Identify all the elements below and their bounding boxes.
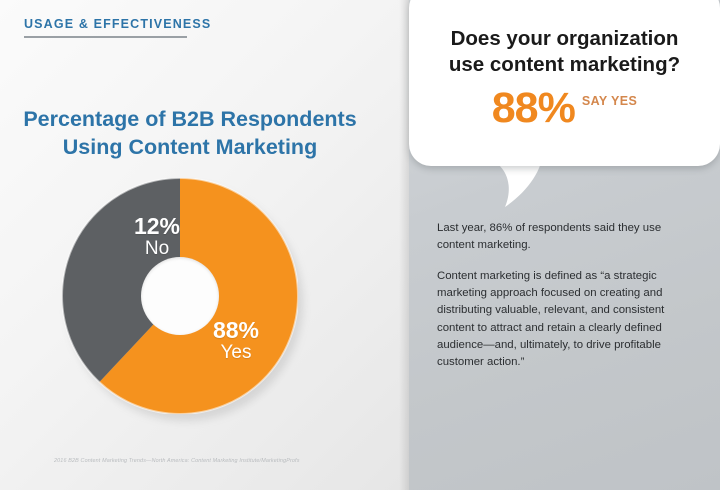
left-panel: USAGE & EFFECTIVENESS Percentage of B2B … bbox=[0, 0, 409, 490]
donut-label-yes-percent: 88% bbox=[193, 318, 279, 343]
callout-question-line1: Does your organization bbox=[451, 27, 679, 50]
chart-footnote: 2016 B2B Content Marketing Trends—North … bbox=[54, 458, 384, 464]
donut-label-no-name: No bbox=[118, 239, 196, 260]
callout-question: Does your organization use content marke… bbox=[409, 26, 720, 78]
callout-stat: 88%SAY YES bbox=[409, 84, 720, 133]
section-header-rule bbox=[24, 36, 187, 38]
chart-title-line2: Using Content Marketing bbox=[63, 135, 317, 159]
callout-stat-caption: SAY YES bbox=[582, 94, 637, 108]
section-header-label: USAGE & EFFECTIVENESS bbox=[24, 17, 211, 35]
chart-title-line1: Percentage of B2B Respondents bbox=[23, 107, 356, 131]
chart-title: Percentage of B2B Respondents Using Cont… bbox=[0, 105, 380, 162]
donut-chart: 12% No 88% Yes bbox=[62, 178, 306, 422]
body-paragraph-2: Content marketing is defined as “a strat… bbox=[437, 268, 695, 372]
donut-label-yes: 88% Yes bbox=[193, 318, 279, 363]
donut-label-no: 12% No bbox=[118, 214, 196, 259]
body-paragraph-1: Last year, 86% of respondents said they … bbox=[437, 220, 695, 255]
body-copy: Last year, 86% of respondents said they … bbox=[437, 220, 695, 372]
callout-question-line2: use content marketing? bbox=[449, 53, 680, 76]
donut-label-yes-name: Yes bbox=[193, 343, 279, 364]
callout-bubble bbox=[409, 0, 720, 166]
donut-label-no-percent: 12% bbox=[118, 214, 196, 239]
callout-stat-value: 88% bbox=[492, 84, 575, 132]
